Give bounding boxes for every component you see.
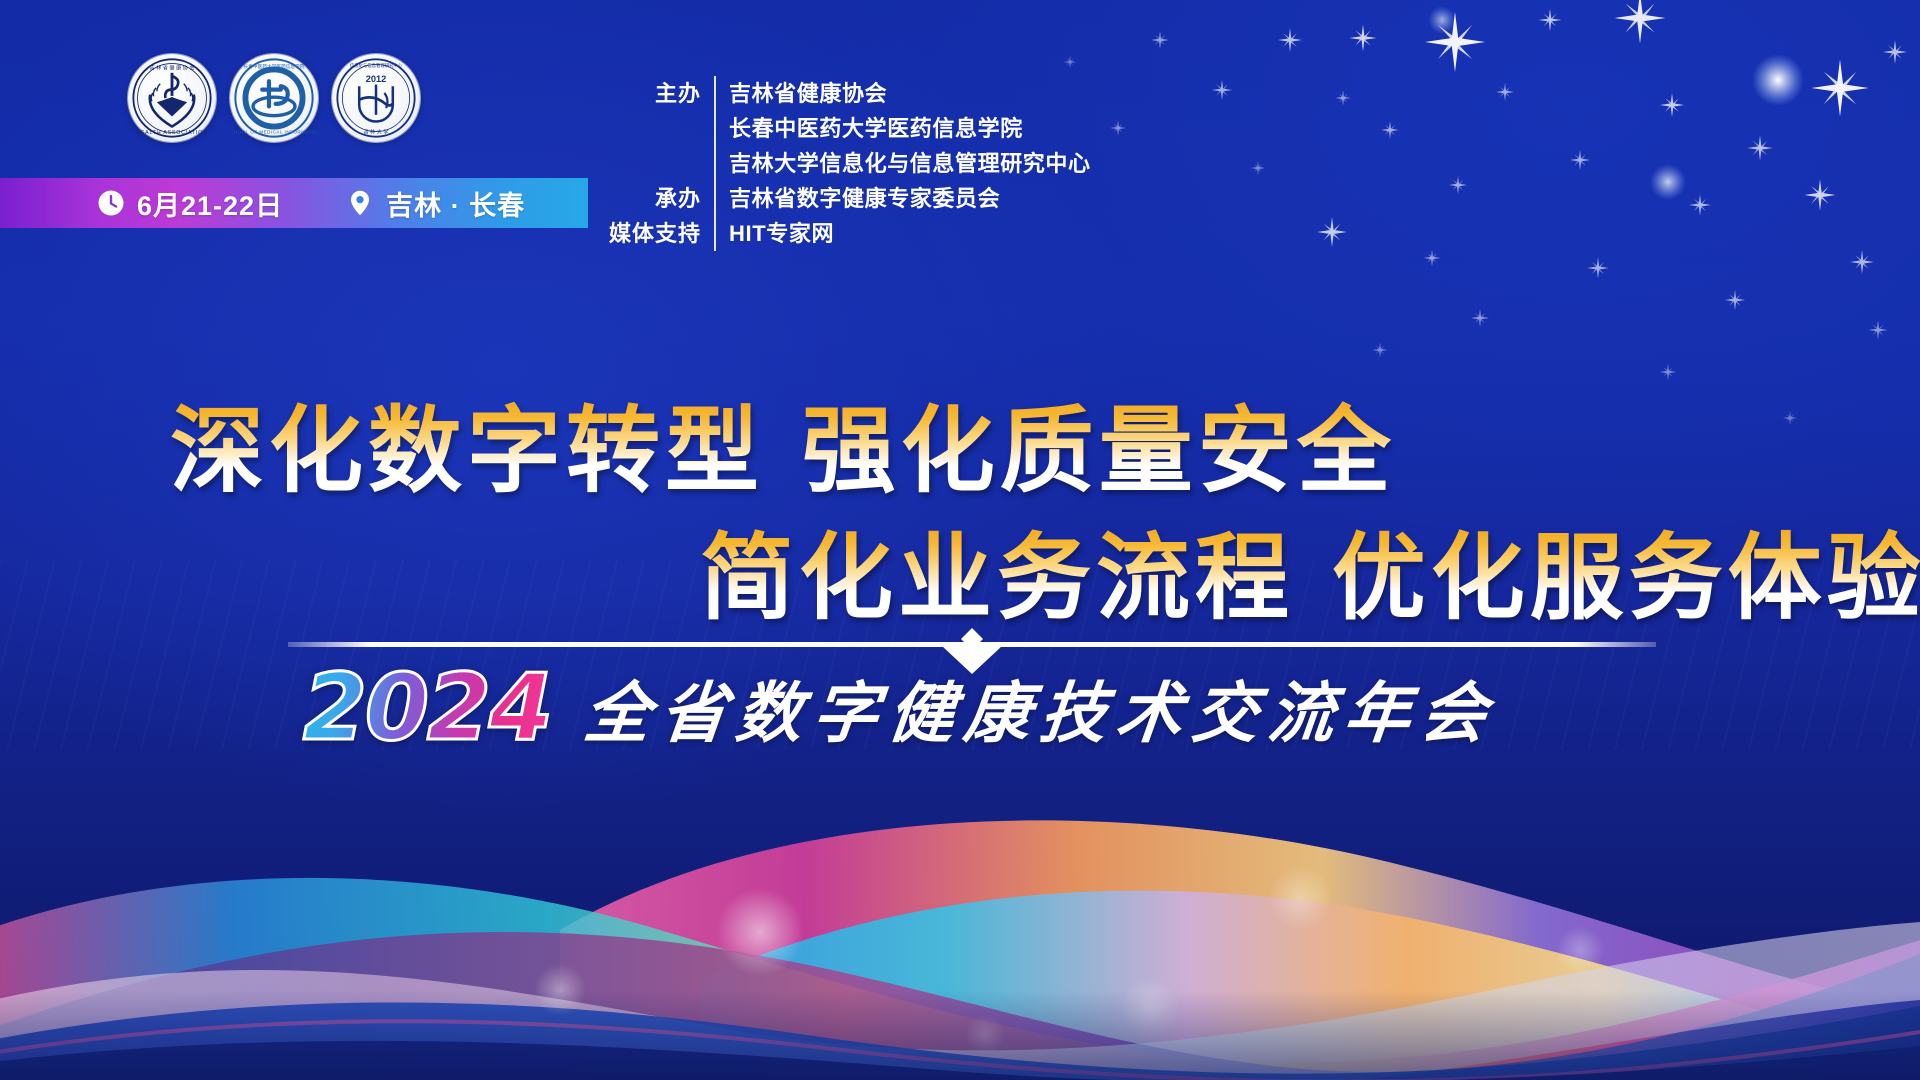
school-of-medical-information-icon: SCHOOL OF MEDICAL INFORMATION 长春中医药大学医药信… — [232, 56, 316, 140]
organizer-row: 承办 吉林省数字健康专家委员会 — [608, 181, 1091, 216]
organizer-value: HIT专家网 — [716, 216, 834, 248]
organizer-list: 主办 吉林省健康协会 长春中医药大学医药信息学院 吉林大学信息化与信息管理研究中… — [608, 76, 1091, 251]
organizer-value: 吉林省数字健康专家委员会 — [716, 181, 1000, 213]
svg-text:长春中医药大学医药信息学院: 长春中医药大学医药信息学院 — [244, 63, 305, 70]
svg-text:吉 林 省 健 康 协 会: 吉 林 省 健 康 协 会 — [150, 64, 195, 71]
organizer-label: 主办 — [608, 76, 714, 108]
event-location: 吉林 · 长春 — [345, 184, 525, 223]
event-location-text: 吉林 · 长春 — [386, 184, 525, 223]
logo-jilin-health-association: HEALTH ASSOCIATION 吉 林 省 健 康 协 会 — [128, 54, 216, 142]
svg-text:SCHOOL OF MEDICAL INFORMATION: SCHOOL OF MEDICAL INFORMATION — [232, 129, 316, 134]
main-headline: 深化数字转型 强化质量安全 简化业务流程 优化服务体验 — [0, 395, 1920, 636]
organizer-label: 承办 — [608, 181, 714, 213]
organizer-logos: HEALTH ASSOCIATION 吉 林 省 健 康 协 会 SCHOOL … — [128, 54, 420, 142]
svg-text:吉 林 大 学: 吉 林 大 学 — [364, 128, 389, 135]
conference-banner: HEALTH ASSOCIATION 吉 林 省 健 康 协 会 SCHOOL … — [0, 0, 1920, 1080]
headline-line-2: 简化业务流程 优化服务体验 — [0, 522, 1920, 637]
organizer-value: 吉林省健康协会 — [716, 76, 887, 108]
information-management-research-center-icon: 2012 吉 林 大 学 信息化与信息管理研究中心 — [334, 56, 418, 140]
organizer-row: 长春中医药大学医药信息学院 — [608, 111, 1091, 146]
clock-icon — [96, 188, 126, 218]
organizer-row: 吉林大学信息化与信息管理研究中心 — [608, 146, 1091, 181]
event-meta-bar: 6月21-22日 吉林 · 长春 — [0, 178, 588, 228]
event-date-text: 6月21-22日 — [137, 184, 283, 223]
headline-line-1: 深化数字转型 强化质量安全 — [0, 395, 1920, 510]
organizer-label: 媒体支持 — [608, 216, 714, 248]
event-date: 6月21-22日 — [96, 184, 283, 223]
location-pin-icon — [345, 188, 375, 218]
organizer-value: 长春中医药大学医药信息学院 — [716, 111, 1023, 143]
organizer-row: 媒体支持 HIT专家网 — [608, 216, 1091, 251]
svg-text:HEALTH ASSOCIATION: HEALTH ASSOCIATION — [136, 130, 207, 136]
logo-school-of-medical-information: SCHOOL OF MEDICAL INFORMATION 长春中医药大学医药信… — [230, 54, 318, 142]
logo-information-management-research-center: 2012 吉 林 大 学 信息化与信息管理研究中心 — [332, 54, 420, 142]
jilin-health-association-icon: HEALTH ASSOCIATION 吉 林 省 健 康 协 会 — [130, 56, 214, 140]
organizer-row: 主办 吉林省健康协会 — [608, 76, 1091, 111]
logo-year-2012: 2012 — [366, 74, 387, 84]
organizer-value: 吉林大学信息化与信息管理研究中心 — [716, 146, 1091, 178]
abstract-wave-decoration — [0, 740, 1920, 1080]
